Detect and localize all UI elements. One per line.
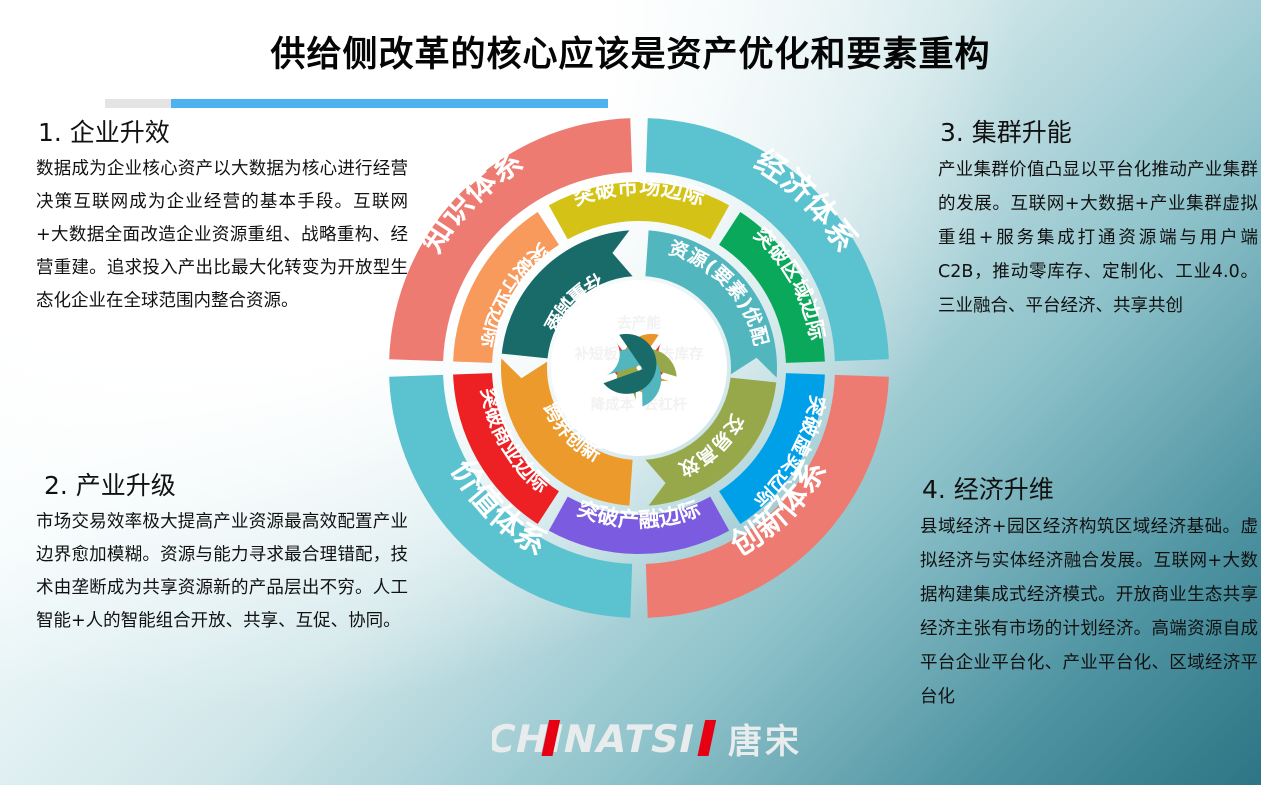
section-heading-4: 4. 经济升维	[922, 470, 1258, 506]
section-body-2: 市场交易效率极大提高产业资源最高效配置产业边界愈加模糊。资源与能力寻求最合理错配…	[36, 506, 408, 638]
logo-cn-text: 唐宋	[728, 722, 802, 762]
slide-canvas: 供给侧改革的核心应该是资产优化和要素重构 1. 企业升效 数据成为企业核心资产以…	[0, 0, 1261, 785]
logo-svg: CHINATSI 唐宋	[492, 716, 832, 768]
section-body-4: 县域经济+园区经济构筑区域经济基础。虚拟经济与实体经济融合发展。互联网+大数据构…	[920, 510, 1258, 714]
page-title: 供给侧改革的核心应该是资产优化和要素重构	[0, 26, 1261, 77]
section-heading-1: 1. 企业升效	[38, 113, 408, 149]
section-block-3: 3. 集群升能 产业集群价值凸显以平台化推动产业集群的发展。互联网+大数据+产业…	[938, 113, 1258, 323]
title-underline-bar	[105, 99, 608, 108]
core-petal-label: 去产能	[617, 314, 661, 332]
logo-accent-bar	[697, 720, 716, 756]
logo-wordmark: CHINATSI	[492, 717, 716, 762]
section-block-2: 2. 产业升级 市场交易效率极大提高产业资源最高效配置产业边界愈加模糊。资源与能…	[36, 466, 408, 638]
core-petal-label: 降成本	[591, 395, 635, 413]
logo-latin-text: CHINATSI	[492, 717, 699, 762]
core-petals: 去产能去库存去杠杆降成本补短板	[551, 280, 727, 456]
logo-chinese-mark: 唐宋	[728, 722, 802, 762]
section-block-4: 4. 经济升维 县域经济+园区经济构筑区域经济基础。虚拟经济与实体经济融合发展。…	[920, 470, 1258, 714]
core-petal-label: 补短板	[573, 345, 618, 363]
title-bar-blue-segment	[171, 99, 608, 108]
title-bar-gray-segment	[105, 99, 171, 108]
section-heading-3: 3. 集群升能	[940, 113, 1258, 149]
brand-logo: CHINATSI 唐宋	[492, 716, 832, 768]
ring-diagram-svg: 知识体系经济体系创新体系价值体系 突破市场边际突破区域边际突破虚实边际突破产融边…	[389, 118, 889, 698]
section-body-1: 数据成为企业核心资产以大数据为核心进行经营决策互联网成为企业经营的基本手段。互联…	[36, 153, 408, 318]
concentric-ring-diagram: 知识体系经济体系创新体系价值体系 突破市场边际突破区域边际突破虚实边际突破产融边…	[389, 118, 889, 698]
section-body-3: 产业集群价值凸显以平台化推动产业集群的发展。互联网+大数据+产业集群虚拟重组+服…	[938, 153, 1258, 323]
section-heading-2: 2. 产业升级	[44, 466, 408, 502]
section-block-1: 1. 企业升效 数据成为企业核心资产以大数据为核心进行经营决策互联网成为企业经营…	[36, 113, 408, 318]
